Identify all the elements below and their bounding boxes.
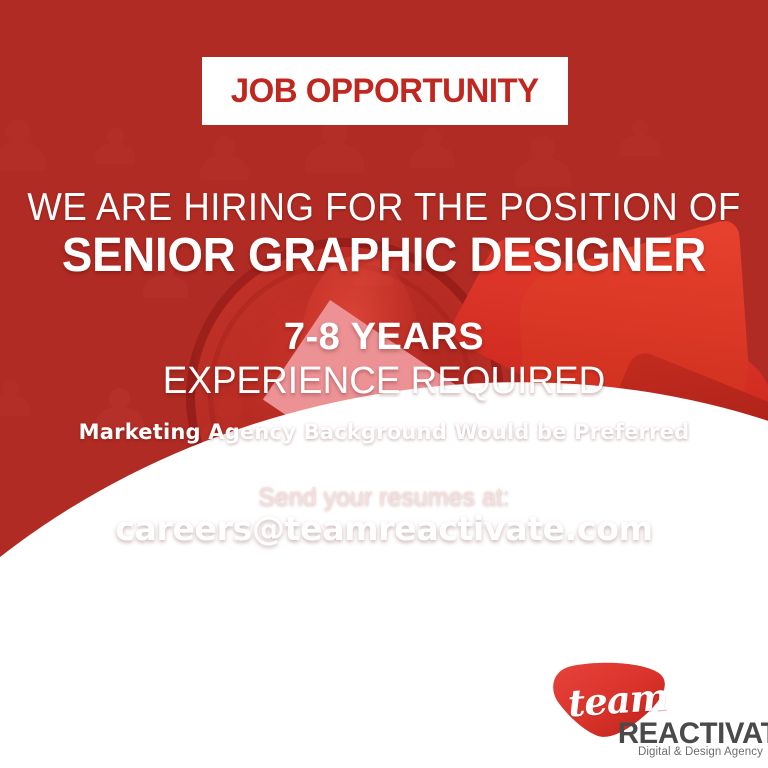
- experience-requirement: EXPERIENCE REQUIRED: [12, 360, 757, 403]
- headline-line-2-job-title: SENIOR GRAPHIC DESIGNER: [19, 228, 749, 283]
- job-opportunity-poster: JOB OPPORTUNITY WE ARE HIRING FOR THE PO…: [0, 0, 768, 768]
- contact-email[interactable]: careers@teamreactivate.com: [0, 509, 768, 548]
- company-logo: team REACTIVATE Digital & Design Agency: [548, 662, 763, 760]
- experience-preference-note: Marketing Agency Background Would be Pre…: [0, 420, 768, 444]
- job-opportunity-badge: JOB OPPORTUNITY: [202, 57, 568, 125]
- poster-content: JOB OPPORTUNITY WE ARE HIRING FOR THE PO…: [0, 0, 768, 768]
- headline-line-1: WE ARE HIRING FOR THE POSITION OF: [23, 186, 745, 230]
- experience-years: 7-8 YEARS: [0, 316, 768, 359]
- logo-tagline: Digital & Design Agency: [632, 746, 763, 758]
- badge-label: JOB OPPORTUNITY: [231, 72, 539, 111]
- contact-prompt: Send your resumes at:: [0, 483, 768, 512]
